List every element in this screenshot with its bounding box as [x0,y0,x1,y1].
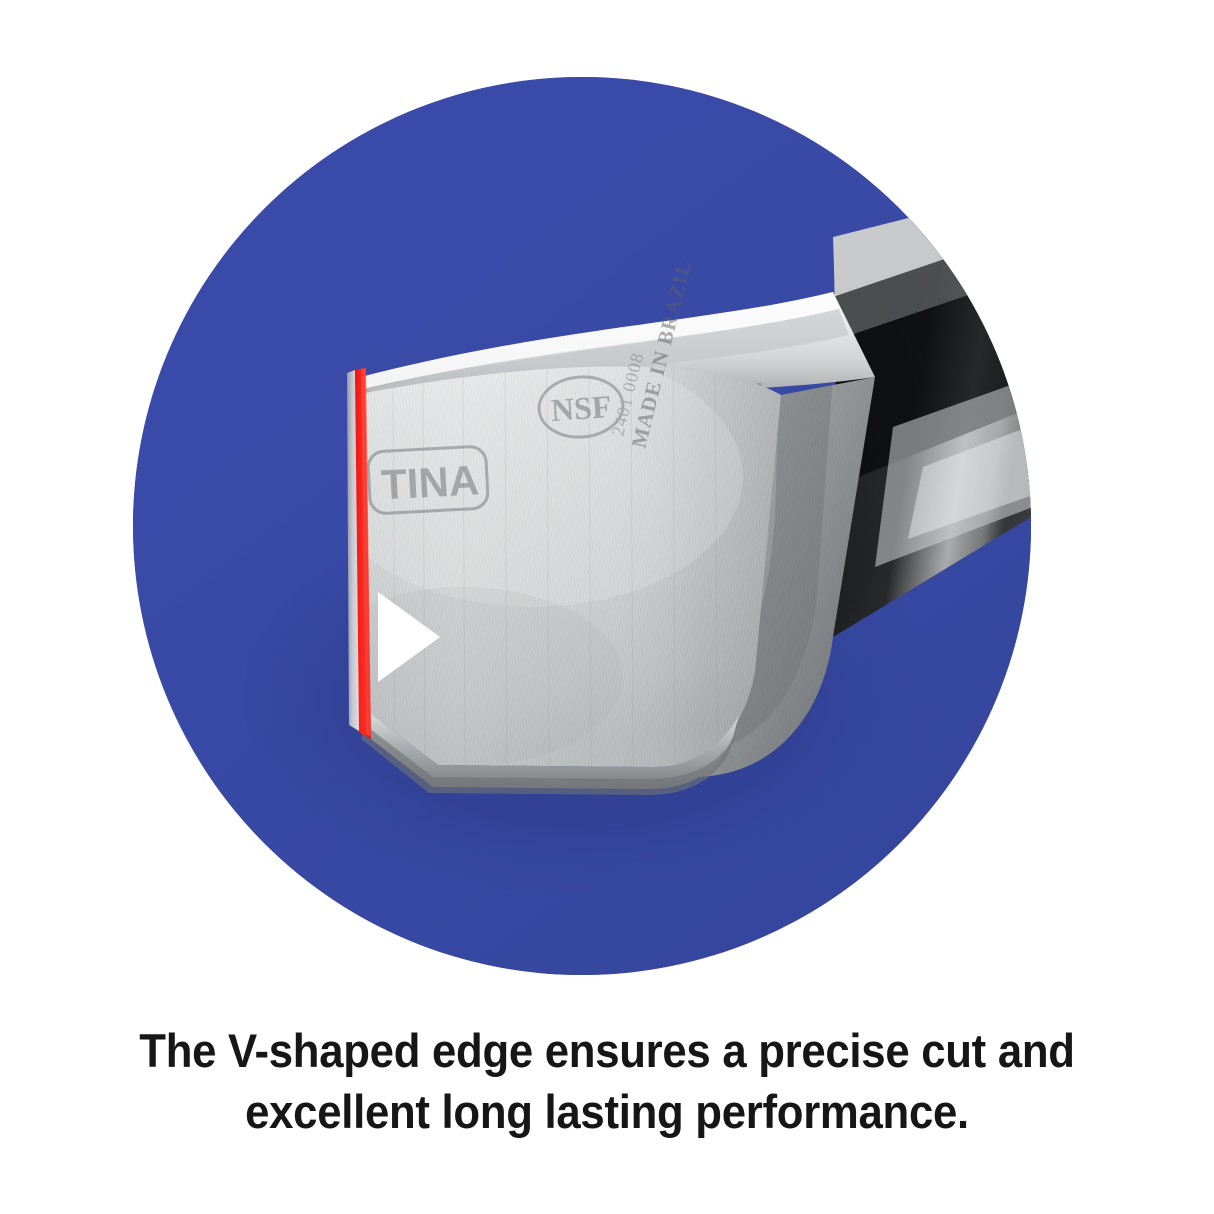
video-thumbnail-circle[interactable]: TINA NSF 2401 0008 MADE IN BRAZIL [133,77,1031,975]
play-triangle-icon [376,590,442,684]
engraving-brand-text: TINA [380,456,480,508]
knife-photo: TINA NSF 2401 0008 MADE IN BRAZIL [133,77,1031,975]
caption-line-2: excellent long lasting performance. [42,1081,1171,1142]
feature-caption: The V-shaped edge ensures a precise cut … [42,1020,1171,1142]
engraving-nsf-text: NSF [550,388,613,428]
play-button[interactable] [376,590,442,684]
caption-line-1: The V-shaped edge ensures a precise cut … [42,1020,1171,1081]
product-feature-card: TINA NSF 2401 0008 MADE IN BRAZIL The V [0,0,1214,1214]
